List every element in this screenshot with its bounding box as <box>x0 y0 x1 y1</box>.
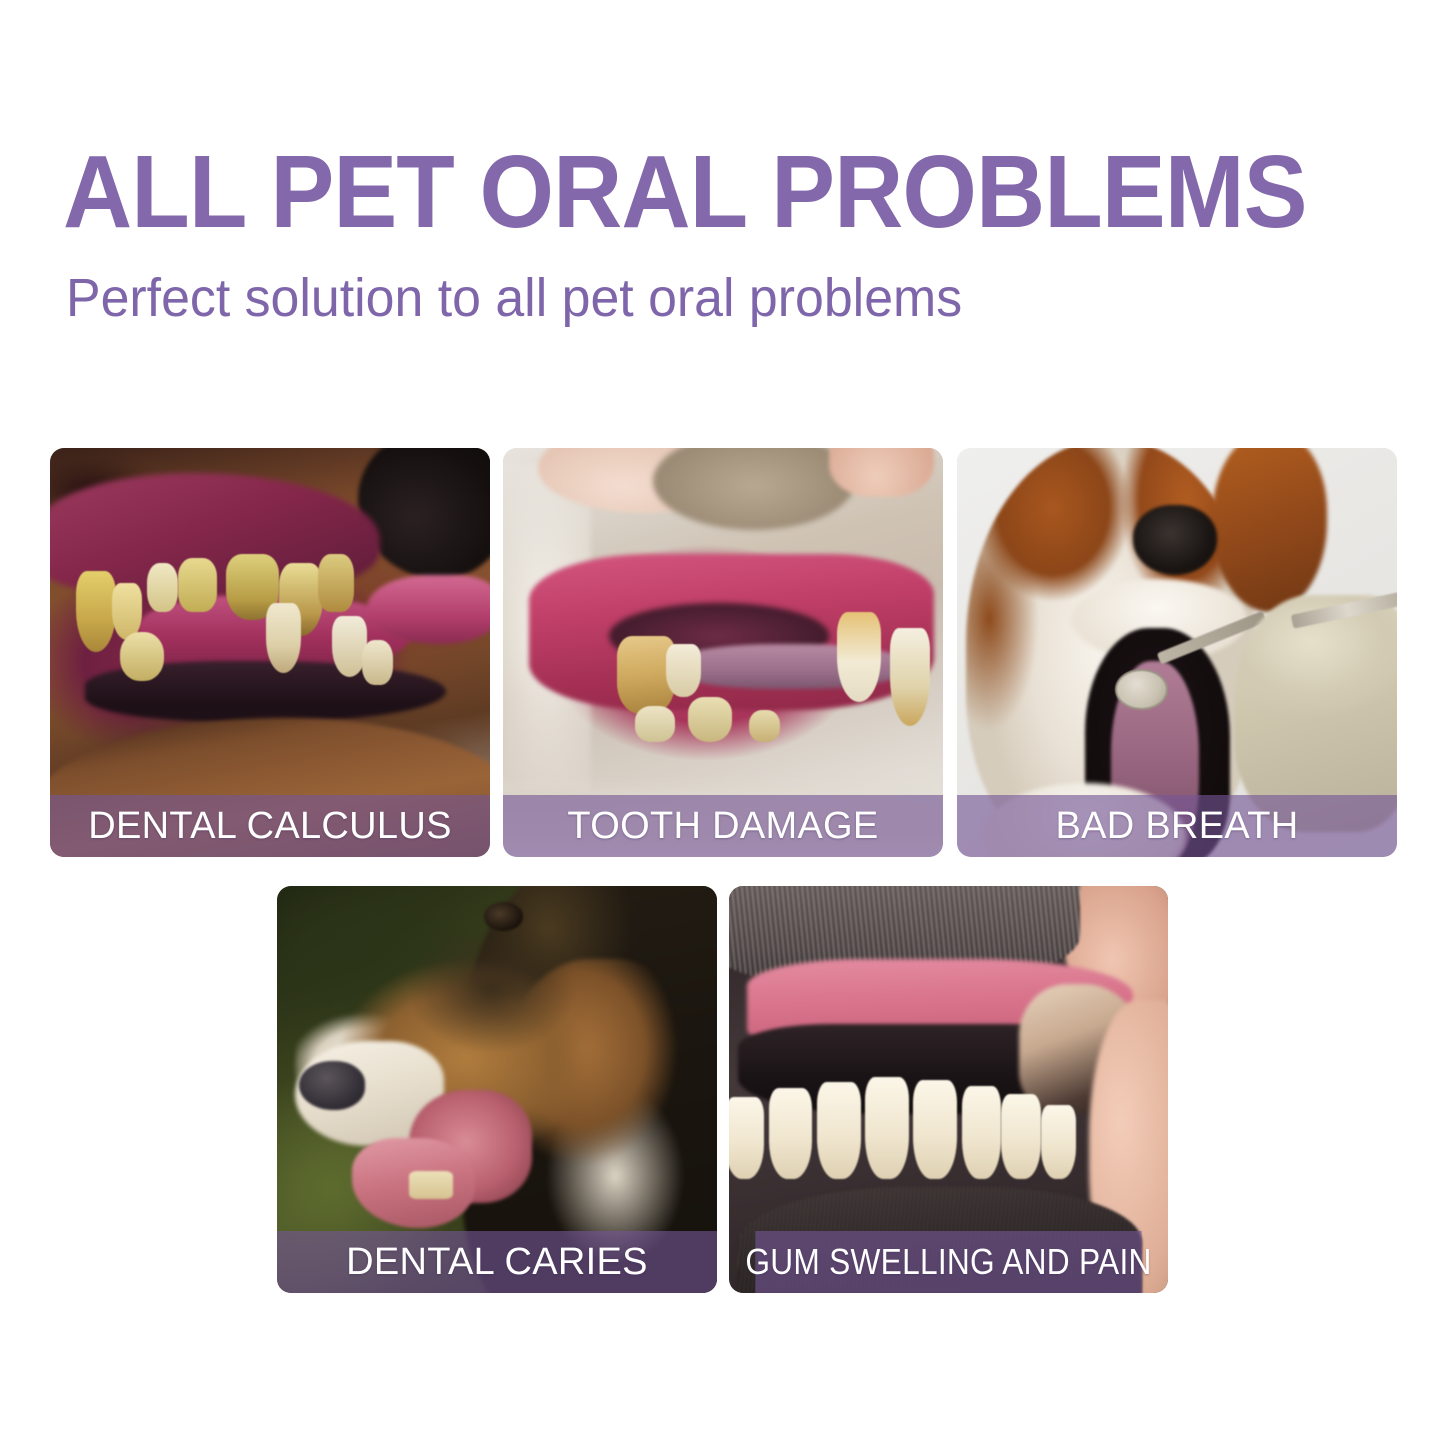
tooth <box>1041 1105 1076 1179</box>
tooth <box>729 1097 764 1180</box>
tartar-tooth <box>120 632 164 681</box>
tooth <box>817 1082 861 1179</box>
tartar-tooth <box>178 558 218 611</box>
canine-tooth <box>837 612 881 702</box>
card-caption: BAD BREATH <box>957 795 1397 857</box>
dental-mirror <box>1115 669 1168 710</box>
promo-page: ALL PET ORAL PROBLEMS Perfect solution t… <box>0 0 1445 1445</box>
teeth <box>409 1171 453 1199</box>
page-subtitle: Perfect solution to all pet oral problem… <box>66 268 1218 328</box>
dog-eye <box>484 902 524 930</box>
human-thumb <box>829 448 935 497</box>
card-caption: GUM SWELLING AND PAIN <box>755 1231 1141 1293</box>
damaged-tooth <box>635 706 675 743</box>
tartar-tooth <box>76 571 116 653</box>
problem-card-gum-swelling[interactable]: GUM SWELLING AND PAIN <box>729 886 1168 1293</box>
damaged-tooth <box>688 697 732 742</box>
tartar-tooth <box>147 563 178 612</box>
problem-card-tooth-damage[interactable]: TOOTH DAMAGE <box>503 448 943 857</box>
dog-nose <box>1133 505 1217 575</box>
dog-nose <box>358 448 490 579</box>
tooth <box>769 1088 813 1179</box>
problem-card-dental-calculus[interactable]: DENTAL CALCULUS <box>50 448 490 857</box>
tartar-tooth <box>362 640 393 685</box>
muzzle-fur <box>653 448 855 530</box>
canine-tooth <box>266 603 301 673</box>
tooth <box>962 1086 1002 1179</box>
page-title: ALL PET ORAL PROBLEMS <box>63 142 1179 242</box>
tartar-tooth <box>318 554 353 611</box>
problem-card-bad-breath[interactable]: BAD BREATH <box>957 448 1397 857</box>
tooth <box>865 1077 909 1179</box>
dog-ear <box>1212 448 1326 612</box>
damaged-tooth <box>666 644 701 697</box>
tooth <box>913 1080 957 1179</box>
dog-nose <box>299 1061 365 1110</box>
tooth <box>1001 1094 1041 1179</box>
card-caption: DENTAL CARIES <box>277 1231 717 1293</box>
damaged-tooth <box>749 710 780 743</box>
card-caption: DENTAL CALCULUS <box>50 795 490 857</box>
problem-card-dental-caries[interactable]: DENTAL CARIES <box>277 886 717 1293</box>
canine-tooth <box>890 628 930 726</box>
card-caption: TOOTH DAMAGE <box>503 795 943 857</box>
teeth-row <box>729 1073 1168 1179</box>
